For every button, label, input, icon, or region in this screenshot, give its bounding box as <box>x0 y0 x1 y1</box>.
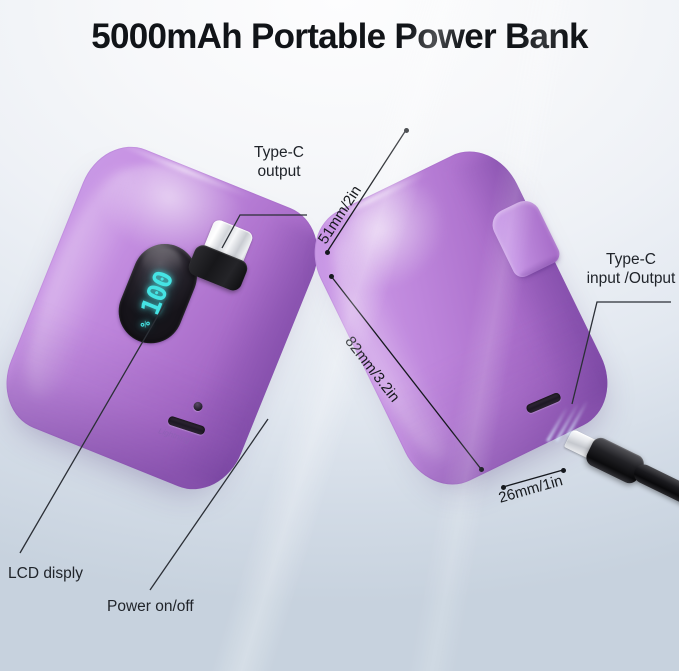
callout-type-c-output: Type-C output <box>243 143 315 181</box>
lcd-battery-percentage: 100 <box>136 268 180 320</box>
page-title: 5000mAh Portable Power Bank <box>0 17 679 57</box>
callout-power-on-off: Power on/off <box>107 597 194 616</box>
power-bank-body-front: 100 % Lightning <box>0 132 333 503</box>
dimension-dot-height-end <box>404 128 409 133</box>
usb-c-cable <box>553 418 679 525</box>
lcd-percent-symbol: % <box>138 318 154 330</box>
product-infographic: 5000mAh Portable Power Bank 100 % Lightn… <box>0 0 679 671</box>
dimension-dot-height-start <box>325 250 330 255</box>
dimension-dot-depth-end <box>561 468 566 473</box>
callout-lcd-display: LCD disply <box>8 564 83 583</box>
cable-cord <box>631 461 679 510</box>
dimension-label-depth: 26mm/1in <box>497 472 565 506</box>
dimension-dot-length-start <box>329 274 334 279</box>
dimension-dot-length-end <box>479 467 484 472</box>
callout-type-c-input-output: Type-C input /Output <box>583 250 679 288</box>
power-bank-front-view: 100 % Lightning <box>0 132 333 503</box>
